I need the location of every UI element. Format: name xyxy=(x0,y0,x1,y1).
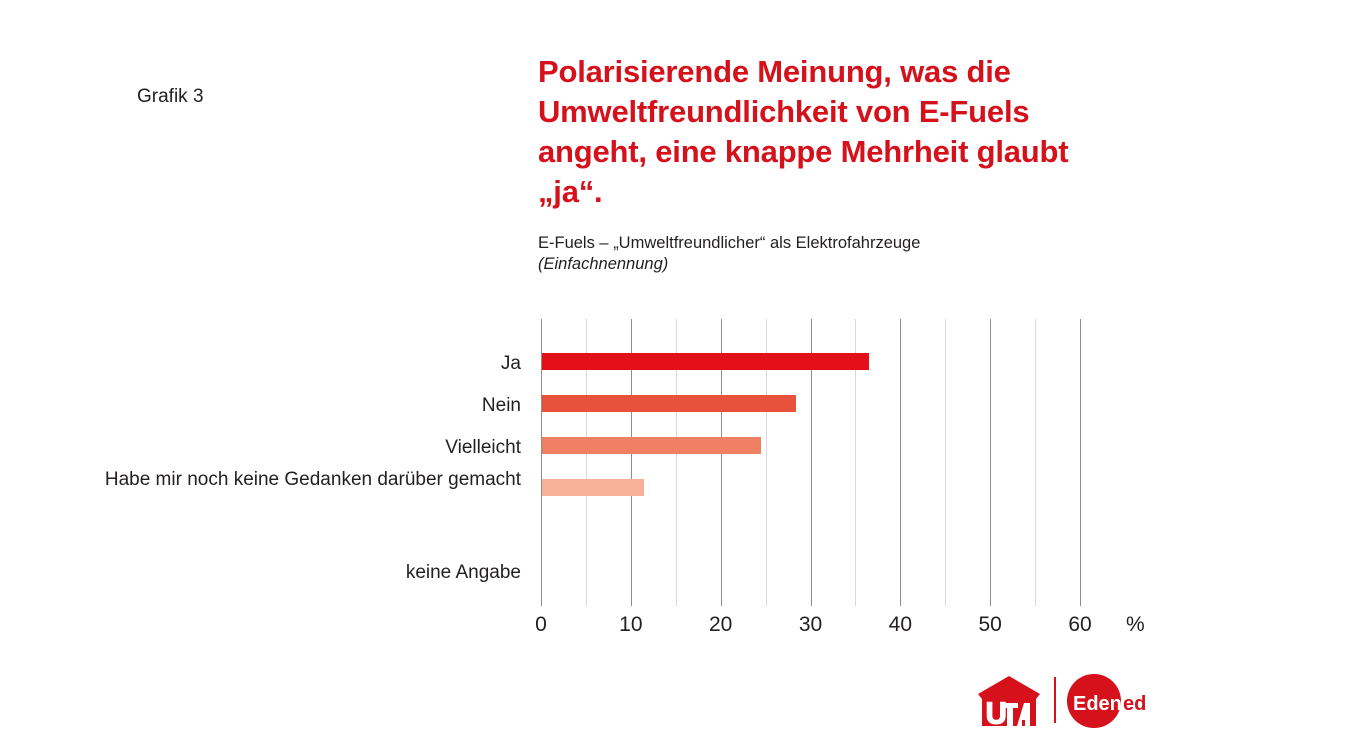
gridline-minor xyxy=(855,319,856,606)
gridline-major xyxy=(811,319,812,606)
bar xyxy=(542,353,869,370)
category-label: Nein xyxy=(101,394,521,418)
value-axis-line xyxy=(541,319,542,606)
svg-text:ed: ed xyxy=(1123,693,1145,715)
gridline-major xyxy=(631,319,632,606)
edenred-logo-icon: Edenr ed xyxy=(1067,674,1145,729)
gridline-major xyxy=(721,319,722,606)
gridline-minor xyxy=(586,319,587,606)
x-tick-label: 10 xyxy=(619,612,642,638)
category-label: keine Angabe xyxy=(101,561,521,585)
chart-subtitle-main: E-Fuels – „Umweltfreundlicher“ als Elekt… xyxy=(538,234,920,252)
gridline-major xyxy=(990,319,991,606)
plot-area xyxy=(541,319,1080,598)
svg-text:Edenr: Edenr xyxy=(1073,693,1130,715)
value-axis-labels: 0102030405060% xyxy=(541,612,1161,646)
gridline-major xyxy=(900,319,901,606)
logo-divider xyxy=(1054,677,1056,723)
x-tick-label: 40 xyxy=(889,612,912,638)
bar xyxy=(542,437,761,454)
category-label: Vielleicht xyxy=(101,436,521,460)
x-tick-label: 60 xyxy=(1068,612,1091,638)
uta-logo-icon xyxy=(978,676,1040,726)
gridline-major xyxy=(1080,319,1081,606)
bar xyxy=(542,479,644,496)
category-label: Habe mir noch keine Gedanken darüber gem… xyxy=(101,468,521,492)
x-tick-label: 20 xyxy=(709,612,732,638)
x-tick-label: 30 xyxy=(799,612,822,638)
x-tick-label: 50 xyxy=(978,612,1001,638)
slide-label: Grafik 3 xyxy=(137,86,204,109)
bar xyxy=(542,395,796,412)
gridline-minor xyxy=(1035,319,1036,606)
gridline-minor xyxy=(676,319,677,606)
page-title: Polarisierende Meinung, was die Umweltfr… xyxy=(538,52,1078,212)
chart-subtitle-note: (Einfachnennung) xyxy=(538,254,1098,275)
x-axis-unit-label: % xyxy=(1126,612,1145,638)
gridline-minor xyxy=(766,319,767,606)
category-label: Ja xyxy=(101,352,521,376)
gridline-minor xyxy=(945,319,946,606)
category-axis-labels: JaNeinVielleichtHabe mir noch keine Geda… xyxy=(101,319,521,598)
x-tick-label: 0 xyxy=(535,612,547,638)
chart-subtitle: E-Fuels – „Umweltfreundlicher“ als Elekt… xyxy=(538,233,1098,275)
brand-logo: Edenr ed xyxy=(978,674,1148,732)
